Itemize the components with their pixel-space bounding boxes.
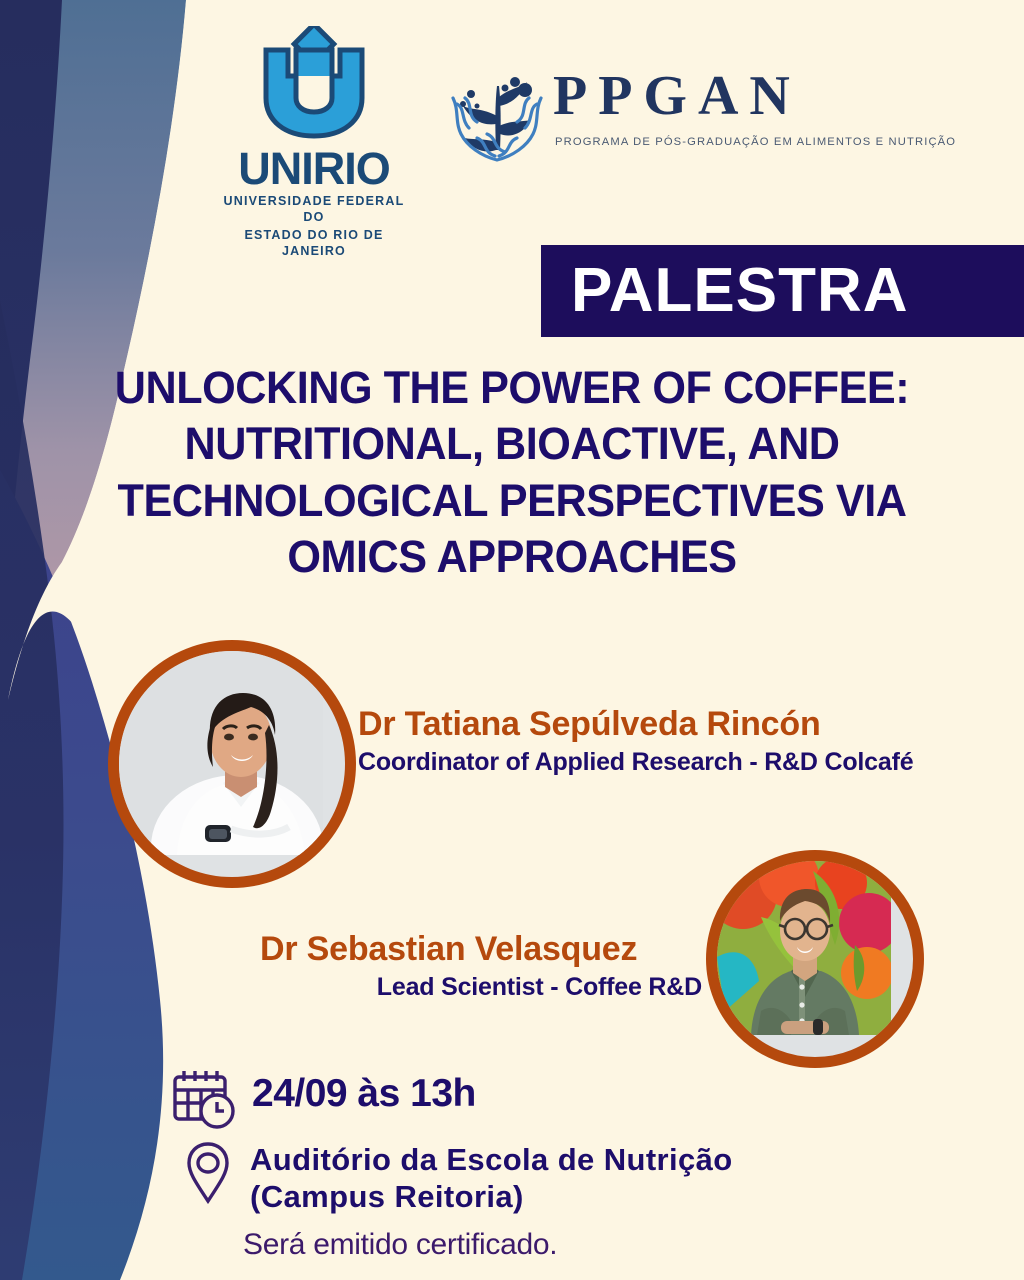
palestra-banner: PALESTRA [541, 245, 1024, 337]
event-poster: UNIRIO UNIVERSIDADE FEDERAL DO ESTADO DO… [0, 0, 1024, 1280]
talk-title-line-1: UNLOCKING THE POWER OF COFFEE: [80, 360, 944, 416]
speaker-2-name: Dr Sebastian Velasquez [260, 930, 710, 968]
speaker-1-name: Dr Tatiana Sepúlveda Rincón [358, 705, 978, 743]
speaker-1-info: Dr Tatiana Sepúlveda Rincón Coordinator … [358, 705, 978, 777]
unirio-logo: UNIRIO UNIVERSIDADE FEDERAL DO ESTADO DO… [214, 26, 414, 260]
calendar-clock-icon [172, 1068, 238, 1130]
event-location-line-1: Auditório da Escola de Nutrição [250, 1142, 733, 1179]
talk-title-line-2: NUTRITIONAL, BIOACTIVE, AND [80, 416, 944, 472]
event-location-line-2: (Campus Reitoria) [250, 1179, 733, 1216]
speaker-2-avatar [706, 850, 924, 1068]
unirio-subtitle-line1: UNIVERSIDADE FEDERAL DO [214, 194, 414, 225]
event-location-row: Auditório da Escola de Nutrição (Campus … [186, 1140, 733, 1215]
ppgan-logo: PPGAN PROGRAMA DE PÓS-GRADUAÇÃO EM ALIME… [443, 62, 863, 174]
ppgan-subtitle: PROGRAMA DE PÓS-GRADUAÇÃO EM ALIMENTOS E… [555, 136, 956, 148]
speaker-1-role: Coordinator of Applied Research - R&D Co… [358, 747, 978, 777]
speaker-2-info: Dr Sebastian Velasquez Lead Scientist - … [260, 930, 710, 1002]
speaker-2-photo [717, 861, 891, 1035]
speaker-1-avatar [108, 640, 356, 888]
palestra-label: PALESTRA [571, 260, 909, 322]
certificate-note: Será emitido certificado. [243, 1228, 557, 1262]
speaker-1-photo [119, 651, 323, 855]
ppgan-plant-dna-icon [443, 64, 551, 172]
event-location-text: Auditório da Escola de Nutrição (Campus … [250, 1140, 733, 1215]
unirio-cup-diamond-icon [244, 26, 384, 144]
talk-title-line-4: OMICS APPROACHES [80, 529, 944, 585]
talk-title-line-3: TECHNOLOGICAL PERSPECTIVES VIA [80, 473, 944, 529]
unirio-subtitle-line2: ESTADO DO RIO DE JANEIRO [214, 228, 414, 259]
event-date-row: 24/09 às 13h [172, 1068, 476, 1130]
talk-title: UNLOCKING THE POWER OF COFFEE: NUTRITION… [80, 360, 944, 585]
unirio-wordmark: UNIRIO [214, 146, 414, 191]
ppgan-wordmark: PPGAN [553, 68, 801, 124]
event-date-time: 24/09 às 13h [252, 1068, 476, 1113]
speaker-2-role: Lead Scientist - Coffee R&D [260, 972, 710, 1002]
map-pin-icon [186, 1142, 230, 1204]
logo-row: UNIRIO UNIVERSIDADE FEDERAL DO ESTADO DO… [0, 14, 1024, 214]
